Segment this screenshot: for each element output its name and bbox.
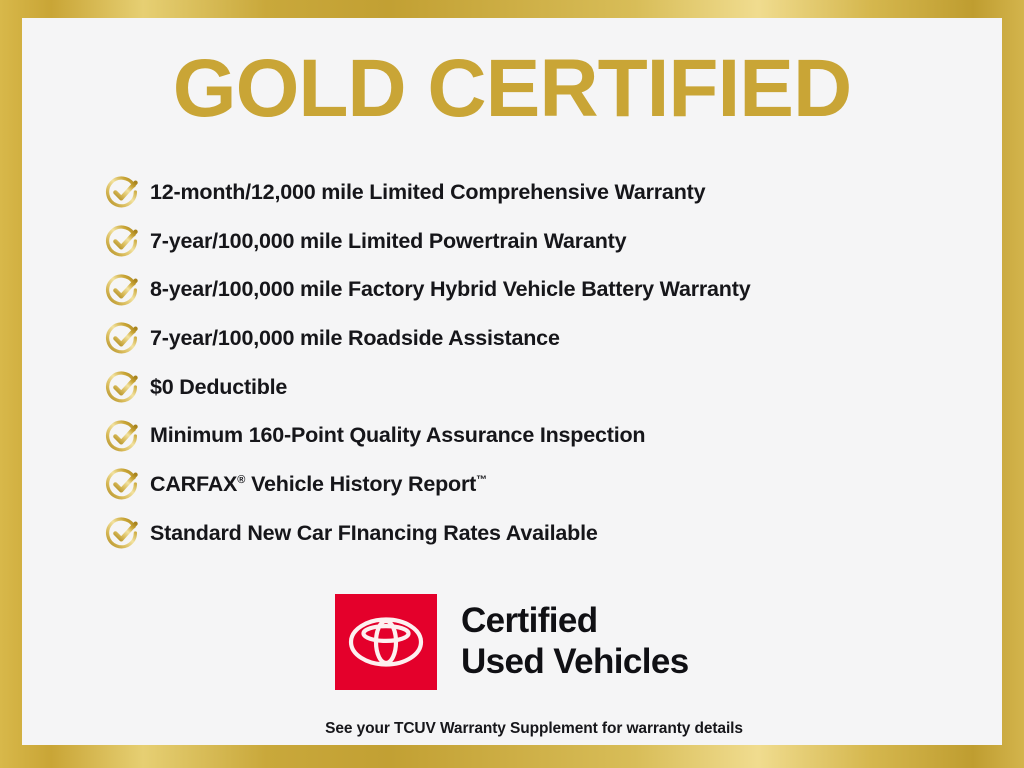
check-circle-icon [96, 514, 150, 552]
list-item: CARFAX® Vehicle History Report™ [96, 460, 996, 509]
carfax-report-label: Vehicle History Report [245, 472, 476, 496]
carfax-wordmark: CARFAX [150, 472, 237, 496]
list-item-label: $0 Deductible [150, 375, 287, 400]
list-item-label: 7-year/100,000 mile Limited Powertrain W… [150, 229, 626, 254]
check-circle-icon [96, 368, 150, 406]
check-circle-icon [96, 417, 150, 455]
list-item: $0 Deductible [96, 363, 996, 412]
toyota-certified-used-vehicles-lockup: Certified Used Vehicles [335, 594, 689, 690]
lockup-line-2: Used Vehicles [461, 642, 689, 683]
list-item-label: 12-month/12,000 mile Limited Comprehensi… [150, 180, 705, 205]
lockup-text: Certified Used Vehicles [461, 601, 689, 682]
white-card: GOLD CERTIFIED 12-month/12,000 mile L [22, 18, 1002, 745]
list-item: Minimum 160-Point Quality Assurance Insp… [96, 411, 996, 460]
trademark-mark: ™ [476, 474, 487, 486]
list-item-label: 8-year/100,000 mile Factory Hybrid Vehic… [150, 277, 750, 302]
toyota-emblem-icon [347, 615, 425, 669]
list-item: 8-year/100,000 mile Factory Hybrid Vehic… [96, 265, 996, 314]
list-item: Standard New Car FInancing Rates Availab… [96, 509, 996, 558]
warranty-disclaimer: See your TCUV Warranty Supplement for wa… [44, 720, 1024, 738]
check-circle-icon [96, 319, 150, 357]
list-item: 7-year/100,000 mile Roadside Assistance [96, 314, 996, 363]
page-title: GOLD CERTIFIED [105, 48, 919, 130]
list-item-label: 7-year/100,000 mile Roadside Assistance [150, 326, 560, 351]
toyota-emblem-badge [335, 594, 437, 690]
check-circle-icon [96, 222, 150, 260]
benefits-list: 12-month/12,000 mile Limited Comprehensi… [96, 168, 996, 558]
list-item-label: CARFAX® Vehicle History Report™ [150, 472, 487, 497]
list-item-label: Minimum 160-Point Quality Assurance Insp… [150, 423, 645, 448]
list-item-label: Standard New Car FInancing Rates Availab… [150, 521, 598, 546]
list-item: 7-year/100,000 mile Limited Powertrain W… [96, 217, 996, 266]
lockup-line-1: Certified [461, 601, 689, 642]
gold-certified-banner: { "title": "GOLD CERTIFIED", "colors": {… [0, 0, 1024, 768]
list-item: 12-month/12,000 mile Limited Comprehensi… [96, 168, 996, 217]
check-circle-icon [96, 271, 150, 309]
check-circle-icon [96, 465, 150, 503]
check-circle-icon [96, 173, 150, 211]
